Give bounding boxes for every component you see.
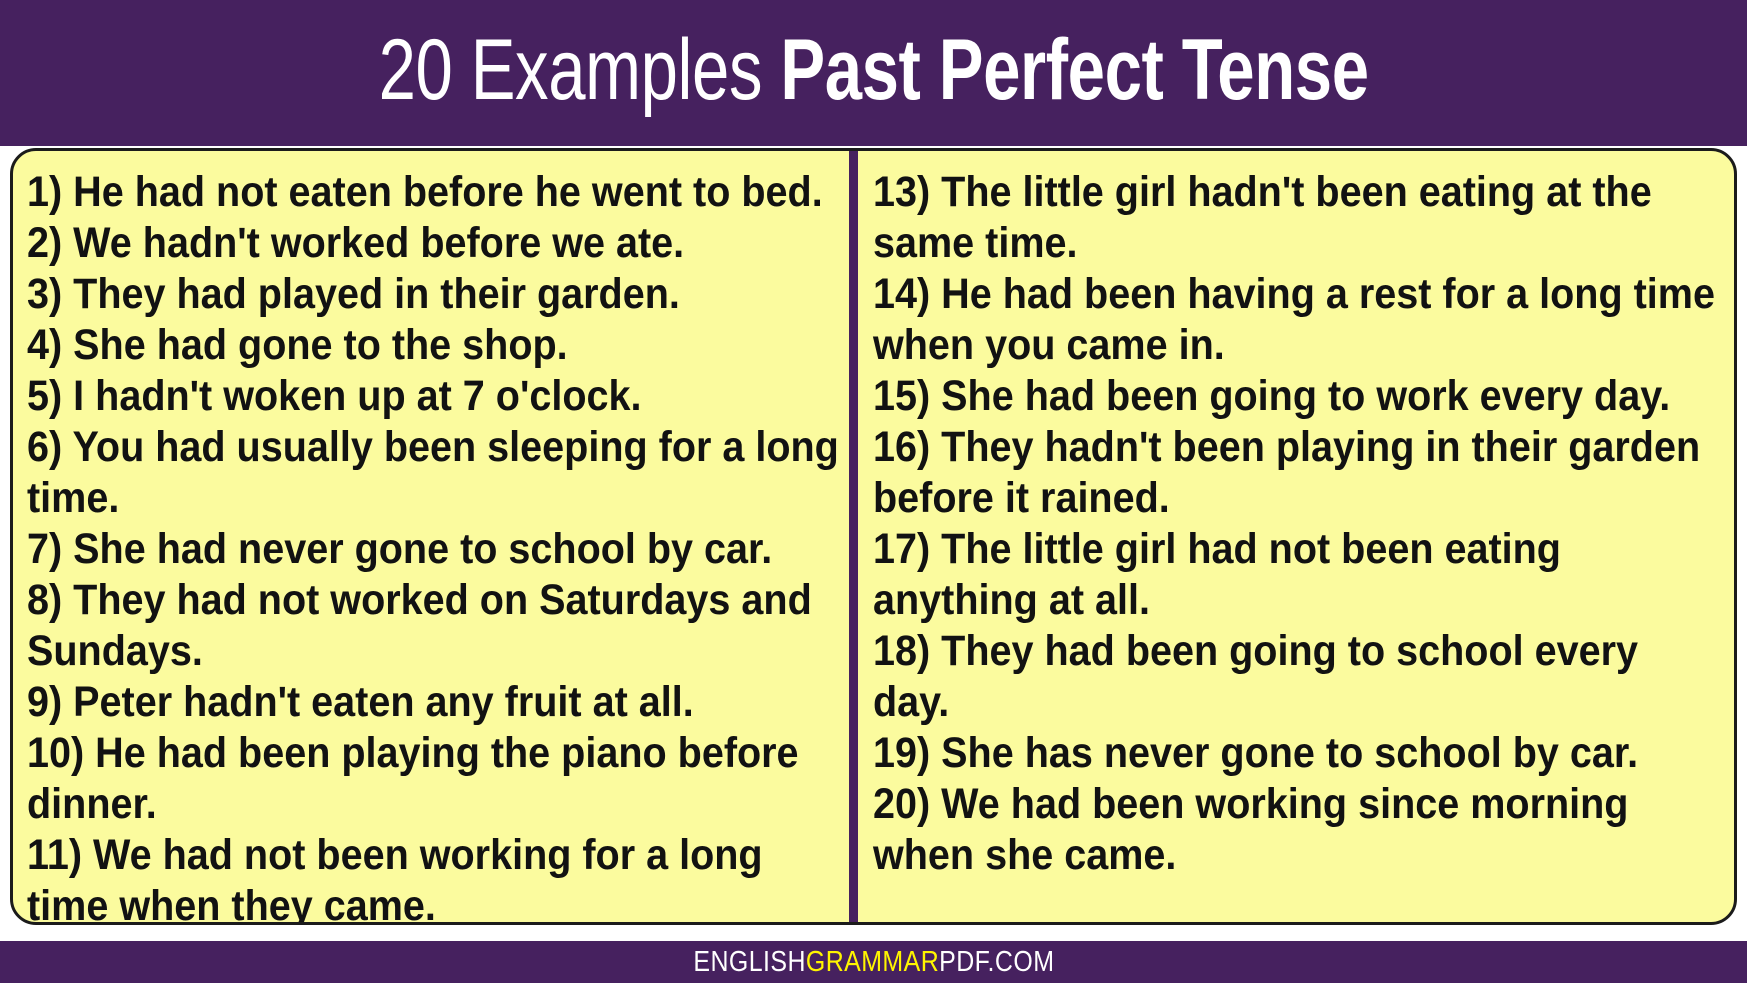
list-item: 8) They had not worked on Saturdays and … <box>27 575 841 677</box>
list-item: 3) They had played in their garden. <box>27 269 841 320</box>
list-item: 6) You had usually been sleeping for a l… <box>27 422 841 524</box>
page-title-bold-part: Past Perfect Tense <box>780 22 1368 118</box>
examples-column-right: 13) The little girl hadn't been eating a… <box>851 151 1734 922</box>
list-item: 11) We had not been working for a long t… <box>27 830 841 925</box>
list-item: 14) He had been having a rest for a long… <box>873 269 1724 371</box>
site-watermark: ENGLISHGRAMMARPDF.COM <box>693 948 1054 977</box>
list-item: 18) They had been going to school every … <box>873 626 1724 728</box>
list-item: 1) He had not eaten before he went to be… <box>27 167 841 218</box>
list-item: 19) She has never gone to school by car. <box>873 728 1724 779</box>
list-item: 2) We hadn't worked before we ate. <box>27 218 841 269</box>
footer-band: ENGLISHGRAMMARPDF.COM <box>0 941 1747 983</box>
page-title-light-part: 20 Examples <box>378 22 780 118</box>
list-item: 17) The little girl had not been eating … <box>873 524 1724 626</box>
list-item: 7) She had never gone to school by car. <box>27 524 841 575</box>
list-item: 4) She had gone to the shop. <box>27 320 841 371</box>
site-watermark-part1: ENGLISH <box>693 946 806 978</box>
examples-column-left: 1) He had not eaten before he went to be… <box>13 151 851 922</box>
site-watermark-part2: GRAMMAR <box>806 946 939 978</box>
page-title: 20 Examples Past Perfect Tense <box>378 27 1368 119</box>
list-item: 20) We had been working since morning wh… <box>873 779 1724 881</box>
poster-root: 20 Examples Past Perfect Tense 1) He had… <box>0 0 1747 983</box>
examples-card: 1) He had not eaten before he went to be… <box>10 148 1737 925</box>
site-watermark-part3: PDF.COM <box>939 946 1054 978</box>
examples-card-inner: 1) He had not eaten before he went to be… <box>13 151 1734 922</box>
list-item: 5) I hadn't woken up at 7 o'clock. <box>27 371 841 422</box>
header-band: 20 Examples Past Perfect Tense <box>0 0 1747 146</box>
list-item: 10) He had been playing the piano before… <box>27 728 841 830</box>
list-item: 13) The little girl hadn't been eating a… <box>873 167 1724 269</box>
list-item: 15) She had been going to work every day… <box>873 371 1724 422</box>
list-item: 9) Peter hadn't eaten any fruit at all. <box>27 677 841 728</box>
list-item: 16) They hadn't been playing in their ga… <box>873 422 1724 524</box>
